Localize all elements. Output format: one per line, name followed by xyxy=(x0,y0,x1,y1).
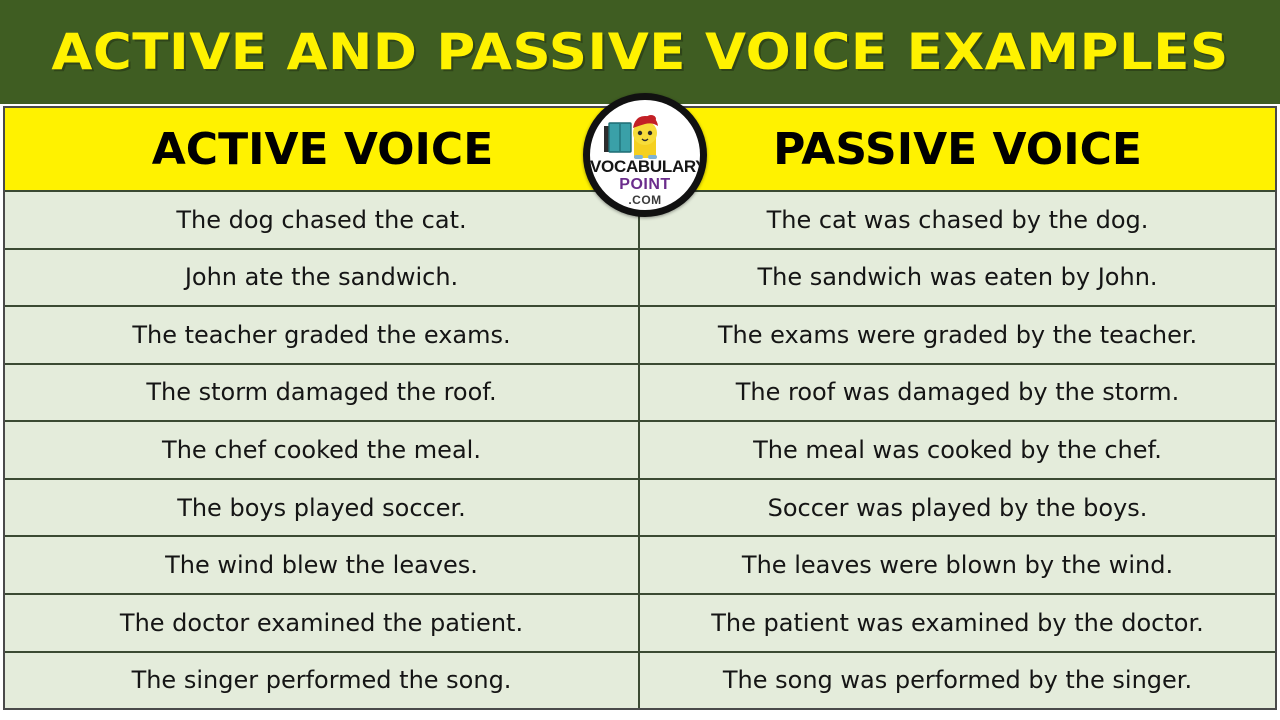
logo-text-vocabulary: VOCABULARY xyxy=(590,158,700,175)
passive-voice-cell: Soccer was played by the boys. xyxy=(640,480,1275,536)
passive-voice-cell: The song was performed by the singer. xyxy=(640,653,1275,709)
mascot-icon xyxy=(590,106,700,164)
table-row: The chef cooked the meal.The meal was co… xyxy=(5,422,1275,480)
active-voice-cell: The wind blew the leaves. xyxy=(5,537,640,593)
table-row: The singer performed the song.The song w… xyxy=(5,653,1275,709)
column-header-active-voice: ACTIVE VOICE xyxy=(5,108,640,190)
table-row: The teacher graded the exams.The exams w… xyxy=(5,307,1275,365)
active-voice-cell: John ate the sandwich. xyxy=(5,250,640,306)
active-voice-cell: The singer performed the song. xyxy=(5,653,640,709)
passive-voice-cell: The roof was damaged by the storm. xyxy=(640,365,1275,421)
passive-voice-cell: The exams were graded by the teacher. xyxy=(640,307,1275,363)
passive-voice-cell: The cat was chased by the dog. xyxy=(640,192,1275,248)
active-voice-cell: The teacher graded the exams. xyxy=(5,307,640,363)
active-voice-cell: The doctor examined the patient. xyxy=(5,595,640,651)
table-row: The wind blew the leaves.The leaves were… xyxy=(5,537,1275,595)
infographic-page: ACTIVE AND PASSIVE VOICE EXAMPLES ACTIVE… xyxy=(0,0,1280,720)
passive-voice-cell: The meal was cooked by the chef. xyxy=(640,422,1275,478)
character-icon xyxy=(633,115,658,159)
passive-voice-cell: The sandwich was eaten by John. xyxy=(640,250,1275,306)
table-row: John ate the sandwich.The sandwich was e… xyxy=(5,250,1275,308)
active-voice-cell: The storm damaged the roof. xyxy=(5,365,640,421)
active-voice-cell: The dog chased the cat. xyxy=(5,192,640,248)
table-row: The boys played soccer.Soccer was played… xyxy=(5,480,1275,538)
active-voice-cell: The chef cooked the meal. xyxy=(5,422,640,478)
vocabulary-point-logo: VOCABULARY POINT .COM xyxy=(583,93,707,217)
logo-inner-disc: VOCABULARY POINT .COM xyxy=(590,100,700,210)
title-banner: ACTIVE AND PASSIVE VOICE EXAMPLES xyxy=(0,0,1280,104)
active-voice-cell: The boys played soccer. xyxy=(5,480,640,536)
book-icon xyxy=(604,123,631,152)
table-row: The doctor examined the patient.The pati… xyxy=(5,595,1275,653)
table-body: The dog chased the cat.The cat was chase… xyxy=(5,192,1275,708)
passive-voice-cell: The leaves were blown by the wind. xyxy=(640,537,1275,593)
table-row: The storm damaged the roof.The roof was … xyxy=(5,365,1275,423)
logo-text-com: .COM xyxy=(590,194,700,206)
column-header-passive-voice: PASSIVE VOICE xyxy=(640,108,1275,190)
page-title: ACTIVE AND PASSIVE VOICE EXAMPLES xyxy=(0,0,1280,104)
passive-voice-cell: The patient was examined by the doctor. xyxy=(640,595,1275,651)
logo-text-point: POINT xyxy=(590,177,700,193)
